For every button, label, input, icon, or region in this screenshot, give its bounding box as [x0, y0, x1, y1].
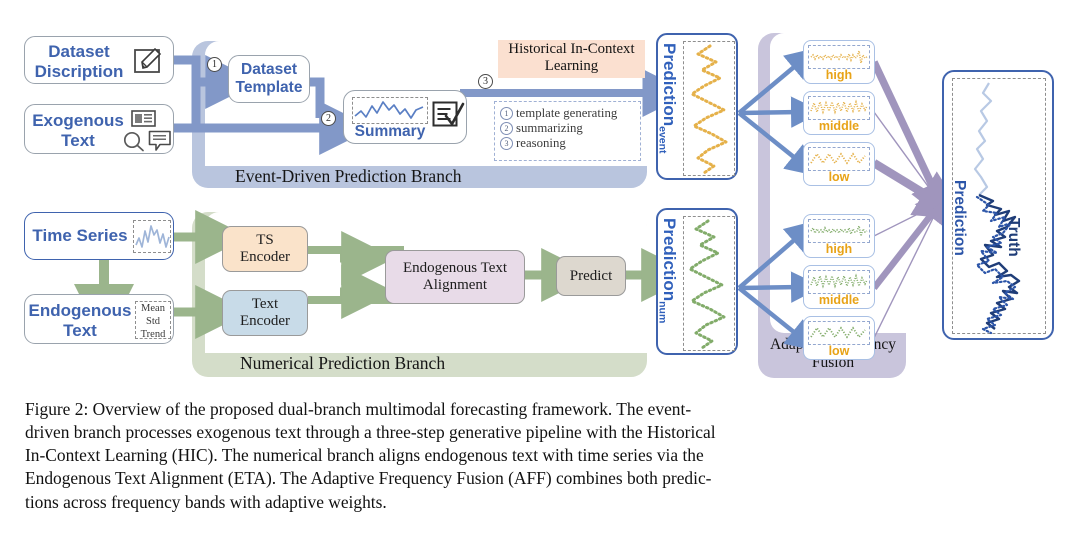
hic-step-item: 2 summarizing: [500, 121, 635, 136]
hic-step-number: 2: [500, 122, 513, 135]
numeric-band-low-plot: [808, 321, 870, 345]
hic-steps-list: 1 template generating 2 summarizing 3 re…: [494, 101, 641, 161]
numeric-band-low-label: low: [829, 345, 850, 358]
event-band-high-series: [809, 46, 869, 68]
dataset-template-line1: Dataset: [236, 61, 303, 79]
pencil-icon: [133, 47, 165, 75]
numeric-band-high-plot: [808, 219, 870, 243]
numeric-band-high[interactable]: high: [803, 214, 875, 258]
endogenous-text-line2: Text: [26, 321, 134, 341]
hic-step-text: reasoning: [516, 136, 566, 151]
event-band-high[interactable]: high: [803, 40, 875, 84]
caption-line: In-Context Learning (HIC). The numerical…: [25, 444, 1057, 467]
numeric-band-middle-plot: [808, 270, 870, 294]
numeric-band-middle-label: middle: [819, 294, 859, 307]
predict-box[interactable]: Predict: [556, 256, 626, 296]
final-prediction-label: Prediction: [950, 180, 968, 256]
dataset-description-line2: Discription: [31, 62, 127, 82]
prediction-event-label: Predictionevent: [657, 43, 679, 154]
exogenous-text-line1: Exogenous: [27, 111, 129, 131]
numeric-band-middle-series: [809, 271, 869, 293]
endogenous-text-line1: Endogenous: [26, 301, 134, 321]
step-1-label: 1: [212, 59, 217, 70]
hic-step-text: summarizing: [516, 121, 583, 136]
final-truth-label: Truth: [1004, 218, 1022, 257]
endogenous-text-box[interactable]: Endogenous Text Mean Std Trend: [24, 294, 174, 344]
event-band-middle[interactable]: middle: [803, 91, 875, 135]
dataset-template-box[interactable]: Dataset Template: [228, 55, 310, 103]
prediction-num-box: Predictionnum: [656, 208, 738, 355]
timeseries-sparkline: [134, 221, 170, 252]
event-band-low-series: [809, 148, 869, 170]
endogenous-stat: Mean: [136, 303, 170, 316]
eta-line1: Endogenous Text: [403, 260, 507, 277]
exogenous-text-label: Exogenous Text: [27, 111, 129, 150]
hic-step-number: 1: [500, 107, 513, 120]
event-band-low-plot: [808, 147, 870, 171]
hic-step-number: 3: [500, 137, 513, 150]
article-icon: [131, 110, 157, 128]
event-band-middle-series: [809, 97, 869, 119]
hic-title-line1: Historical In-Context: [498, 41, 645, 58]
prediction-event-subscript: event: [657, 126, 669, 153]
event-band-low[interactable]: low: [803, 142, 875, 186]
step-2-circle: 2: [321, 111, 336, 126]
event-band-low-label: low: [829, 171, 850, 184]
final-output-box: Prediction Truth: [942, 70, 1054, 340]
prediction-event-text: Prediction: [660, 43, 679, 126]
eta-line2: Alignment: [403, 277, 507, 294]
caption-line: driven branch processes exogenous text t…: [25, 421, 1057, 444]
endogenous-text-label: Endogenous Text: [26, 301, 134, 340]
summary-sparkline: [353, 98, 427, 123]
summary-label: Summary: [352, 123, 428, 141]
hic-step-item: 3 reasoning: [500, 136, 635, 151]
text-encoder-line1: Text: [240, 296, 290, 313]
hic-step-text: template generating: [516, 106, 617, 121]
dataset-description-line1: Dataset: [31, 42, 127, 62]
hic-step-item: 1 template generating: [500, 106, 635, 121]
numeric-band-middle[interactable]: middle: [803, 265, 875, 309]
search-icon: [123, 131, 145, 151]
predict-label: Predict: [570, 268, 613, 285]
dataset-template-line2: Template: [236, 79, 303, 97]
figure-root: Event-Driven Prediction Branch Numerical…: [0, 0, 1080, 547]
endogenous-stats-frame: Mean Std Trend: [135, 301, 171, 339]
step-3-label: 3: [483, 76, 488, 87]
numeric-band-low[interactable]: low: [803, 316, 875, 360]
comment-icon: [148, 130, 172, 152]
ts-encoder-box[interactable]: TS Encoder: [222, 226, 308, 272]
time-series-label: Time Series: [30, 226, 130, 246]
event-band-high-label: high: [826, 69, 852, 82]
exogenous-text-line2: Text: [27, 131, 129, 151]
prediction-event-series: [684, 42, 734, 175]
summary-chart-frame: [352, 97, 428, 124]
step-3-circle: 3: [478, 74, 493, 89]
ts-encoder-line2: Encoder: [240, 249, 290, 266]
prediction-event-box: Predictionevent: [656, 33, 738, 180]
dataset-description-label: Dataset Discription: [31, 42, 127, 81]
summary-box[interactable]: Summary: [343, 90, 467, 144]
time-series-box[interactable]: Time Series: [24, 212, 174, 260]
caption-line: tions across frequency bands with adapti…: [25, 491, 1057, 514]
numeric-band-low-series: [809, 322, 869, 344]
text-encoder-line2: Encoder: [240, 313, 290, 330]
ts-encoder-line1: TS: [240, 232, 290, 249]
timeseries-icon: [133, 220, 171, 253]
prediction-num-subscript: num: [657, 301, 669, 323]
event-branch-label: Event-Driven Prediction Branch: [235, 166, 461, 187]
prediction-num-text: Prediction: [660, 218, 679, 301]
hic-title-line2: Learning: [498, 58, 645, 75]
dataset-template-label: Dataset Template: [236, 61, 303, 96]
prediction-event-plot-frame: [683, 41, 735, 176]
event-band-middle-label: middle: [819, 120, 859, 133]
event-band-middle-plot: [808, 96, 870, 120]
caption-line: Figure 2: Overview of the proposed dual-…: [25, 398, 1057, 421]
prediction-num-label: Predictionnum: [657, 218, 679, 323]
event-band-high-plot: [808, 45, 870, 69]
text-encoder-box[interactable]: Text Encoder: [222, 290, 308, 336]
numeric-branch-label: Numerical Prediction Branch: [240, 353, 445, 374]
endogenous-stat: Std: [136, 316, 170, 329]
figure-caption: Figure 2: Overview of the proposed dual-…: [25, 398, 1057, 514]
endogenous-stat: Trend: [136, 329, 170, 342]
step-2-label: 2: [326, 113, 331, 124]
prediction-num-plot-frame: [683, 216, 735, 351]
eta-box[interactable]: Endogenous Text Alignment: [385, 250, 525, 304]
step-1-circle: 1: [207, 57, 222, 72]
hic-title: Historical In-Context Learning: [498, 40, 645, 78]
numeric-band-high-series: [809, 220, 869, 242]
checklist-icon: [432, 101, 464, 133]
prediction-num-series: [684, 217, 734, 350]
caption-line: Endogenous Text Alignment (ETA). The Ada…: [25, 467, 1057, 490]
numeric-band-high-label: high: [826, 243, 852, 256]
exogenous-text-box[interactable]: Exogenous Text: [24, 104, 174, 154]
dataset-description-box[interactable]: Dataset Discription: [24, 36, 174, 84]
